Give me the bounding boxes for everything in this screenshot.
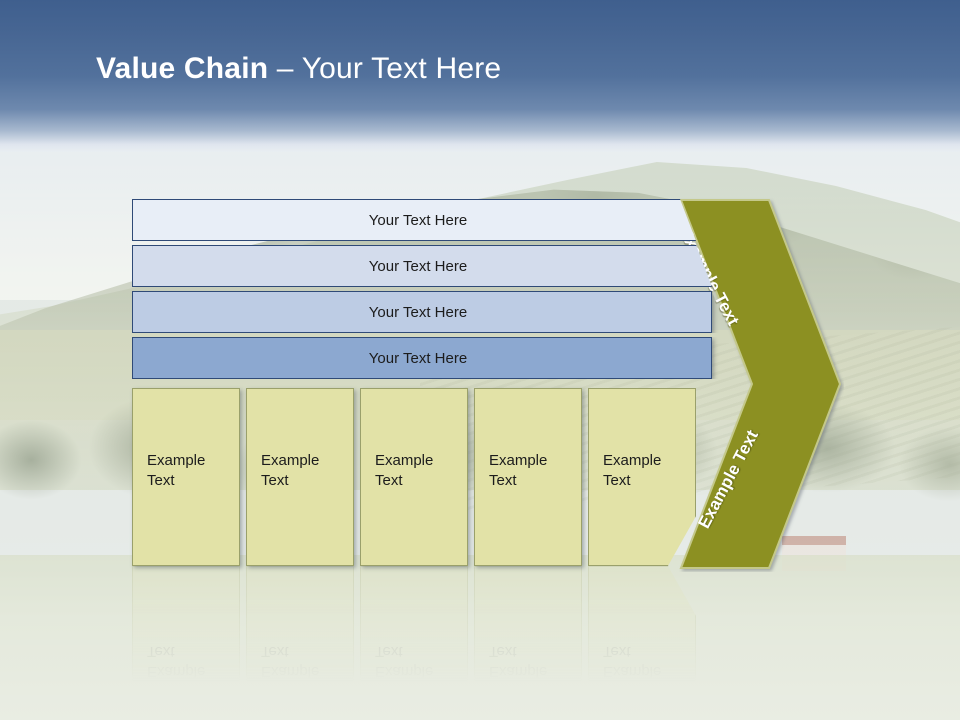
blue-bar-label: Your Text Here: [369, 350, 467, 367]
activity-card-line2: Text: [489, 471, 581, 491]
activity-card-reflection: ExampleText: [132, 566, 240, 698]
activity-card-line1: Example: [603, 451, 695, 471]
blue-bar-stack: Your Text HereYour Text HereYour Text He…: [132, 199, 712, 381]
activity-card[interactable]: ExampleText: [132, 388, 240, 566]
blue-bar-label: Your Text Here: [369, 212, 467, 229]
activity-card-line2: Text: [147, 471, 239, 491]
activity-card-reflection: ExampleText: [246, 566, 354, 698]
activity-card-line2: Text: [375, 641, 467, 661]
activity-card-line1: Example: [261, 451, 353, 471]
activity-card[interactable]: ExampleText: [246, 388, 354, 566]
activity-card[interactable]: ExampleText: [588, 388, 696, 566]
page-title-separator: –: [268, 52, 301, 85]
blue-bar-label: Your Text Here: [369, 304, 467, 321]
activity-card[interactable]: ExampleText: [360, 388, 468, 566]
blue-bar[interactable]: Your Text Here: [132, 291, 712, 333]
activity-card-line1: Example: [147, 661, 239, 681]
blue-bar[interactable]: Your Text Here: [132, 337, 712, 379]
activity-card-line2: Text: [261, 641, 353, 661]
activity-card[interactable]: ExampleText: [474, 388, 582, 566]
slide-canvas: Value Chain – Your Text Here Your Text H…: [0, 0, 960, 720]
cards-reflection: ExampleTextExampleTextExampleTextExample…: [132, 566, 732, 698]
activity-card-line1: Example: [489, 661, 581, 681]
activity-card-line2: Text: [375, 471, 467, 491]
activity-card-reflection: ExampleText: [474, 566, 582, 698]
activity-card-line1: Example: [261, 661, 353, 681]
arrow-reflection: Example Text Example Text: [664, 566, 844, 720]
activity-card-line2: Text: [489, 641, 581, 661]
blue-bar[interactable]: Your Text Here: [132, 199, 712, 241]
page-title-light: Your Text Here: [302, 52, 502, 85]
activity-card-line1: Example: [489, 451, 581, 471]
blue-bar[interactable]: Your Text Here: [132, 245, 712, 287]
activity-card-line1: Example: [375, 451, 467, 471]
activity-card-line2: Text: [603, 471, 695, 491]
activity-card-row: ExampleTextExampleTextExampleTextExample…: [132, 388, 732, 566]
page-title-strong: Value Chain: [96, 52, 268, 85]
activity-card-line1: Example: [147, 451, 239, 471]
activity-card-line2: Text: [147, 641, 239, 661]
activity-card-reflection: ExampleText: [360, 566, 468, 698]
page-title: Value Chain – Your Text Here: [96, 52, 501, 86]
activity-card-line1: Example: [375, 661, 467, 681]
activity-card-line2: Text: [261, 471, 353, 491]
blue-bar-label: Your Text Here: [369, 258, 467, 275]
